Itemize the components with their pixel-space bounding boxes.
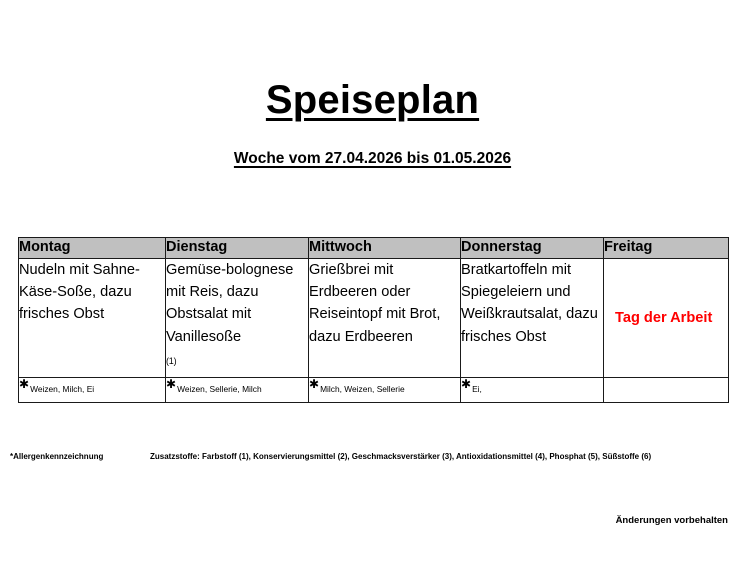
meal-cell-donnerstag: Bratkartoffeln mit Spiegeleiern und Weiß… [461,259,604,378]
allergen-cell-mittwoch: ✱Milch, Weizen, Sellerie [309,378,461,403]
meal-row: Nudeln mit Sahne-Käse-Soße, dazu frische… [19,259,729,378]
page-title: Speiseplan [0,78,745,122]
footnote-row: *Allergenkennzeichnung Zusatzstoffe: Far… [10,452,738,466]
allergen-cell-montag: ✱Weizen, Milch, Ei [19,378,166,403]
page-subtitle-text: Woche vom 27.04.2026 bis 01.05.2026 [234,150,511,167]
disclaimer-text: Änderungen vorbehalten [616,515,728,526]
column-header-dienstag: Dienstag [166,238,309,259]
asterisk-icon: ✱ [166,377,176,391]
footnote-allergen-label: *Allergenkennzeichnung [10,452,103,462]
allergen-text-donnerstag: Ei, [472,384,482,394]
allergen-cell-dienstag: ✱Weizen, Sellerie, Milch [166,378,309,403]
asterisk-icon: ✱ [309,377,319,391]
allergen-row: ✱Weizen, Milch, Ei ✱Weizen, Sellerie, Mi… [19,378,729,403]
speiseplan-page: Speiseplan Woche vom 27.04.2026 bis 01.0… [0,0,745,567]
asterisk-icon: ✱ [461,377,471,391]
footnote-additives-label: Zusatzstoffe: Farbstoff (1), Konservieru… [150,452,651,462]
page-subtitle: Woche vom 27.04.2026 bis 01.05.2026 [0,150,745,169]
meal-additive-dienstag: (1) [166,356,176,366]
allergen-text-montag: Weizen, Milch, Ei [30,384,94,394]
meal-cell-dienstag: Gemüse-bolognese mit Reis, dazu Obstsala… [166,259,309,378]
allergen-text-dienstag: Weizen, Sellerie, Milch [177,384,262,394]
allergen-cell-freitag [604,378,729,403]
holiday-label-freitag: Tag der Arbeit [615,310,712,326]
meal-cell-freitag: Tag der Arbeit [604,259,729,378]
meal-text-donnerstag: Bratkartoffeln mit Spiegeleiern und Weiß… [461,259,603,348]
meal-text-dienstag: Gemüse-bolognese mit Reis, dazu Obstsala… [166,259,308,348]
meal-cell-mittwoch: Grießbrei mit Erdbeeren oder Reiseintopf… [309,259,461,378]
allergen-cell-donnerstag: ✱Ei, [461,378,604,403]
column-header-donnerstag: Donnerstag [461,238,604,259]
allergen-text-mittwoch: Milch, Weizen, Sellerie [320,384,405,394]
meal-text-montag: Nudeln mit Sahne-Käse-Soße, dazu frische… [19,259,165,326]
asterisk-icon: ✱ [19,377,29,391]
table-header-row: Montag Dienstag Mittwoch Donnerstag Frei… [19,238,729,259]
page-title-text: Speiseplan [266,78,479,122]
column-header-freitag: Freitag [604,238,729,259]
meal-cell-montag: Nudeln mit Sahne-Käse-Soße, dazu frische… [19,259,166,378]
weekly-menu-table: Montag Dienstag Mittwoch Donnerstag Frei… [18,237,729,403]
column-header-montag: Montag [19,238,166,259]
column-header-mittwoch: Mittwoch [309,238,461,259]
meal-text-mittwoch: Grießbrei mit Erdbeeren oder Reiseintopf… [309,259,460,348]
